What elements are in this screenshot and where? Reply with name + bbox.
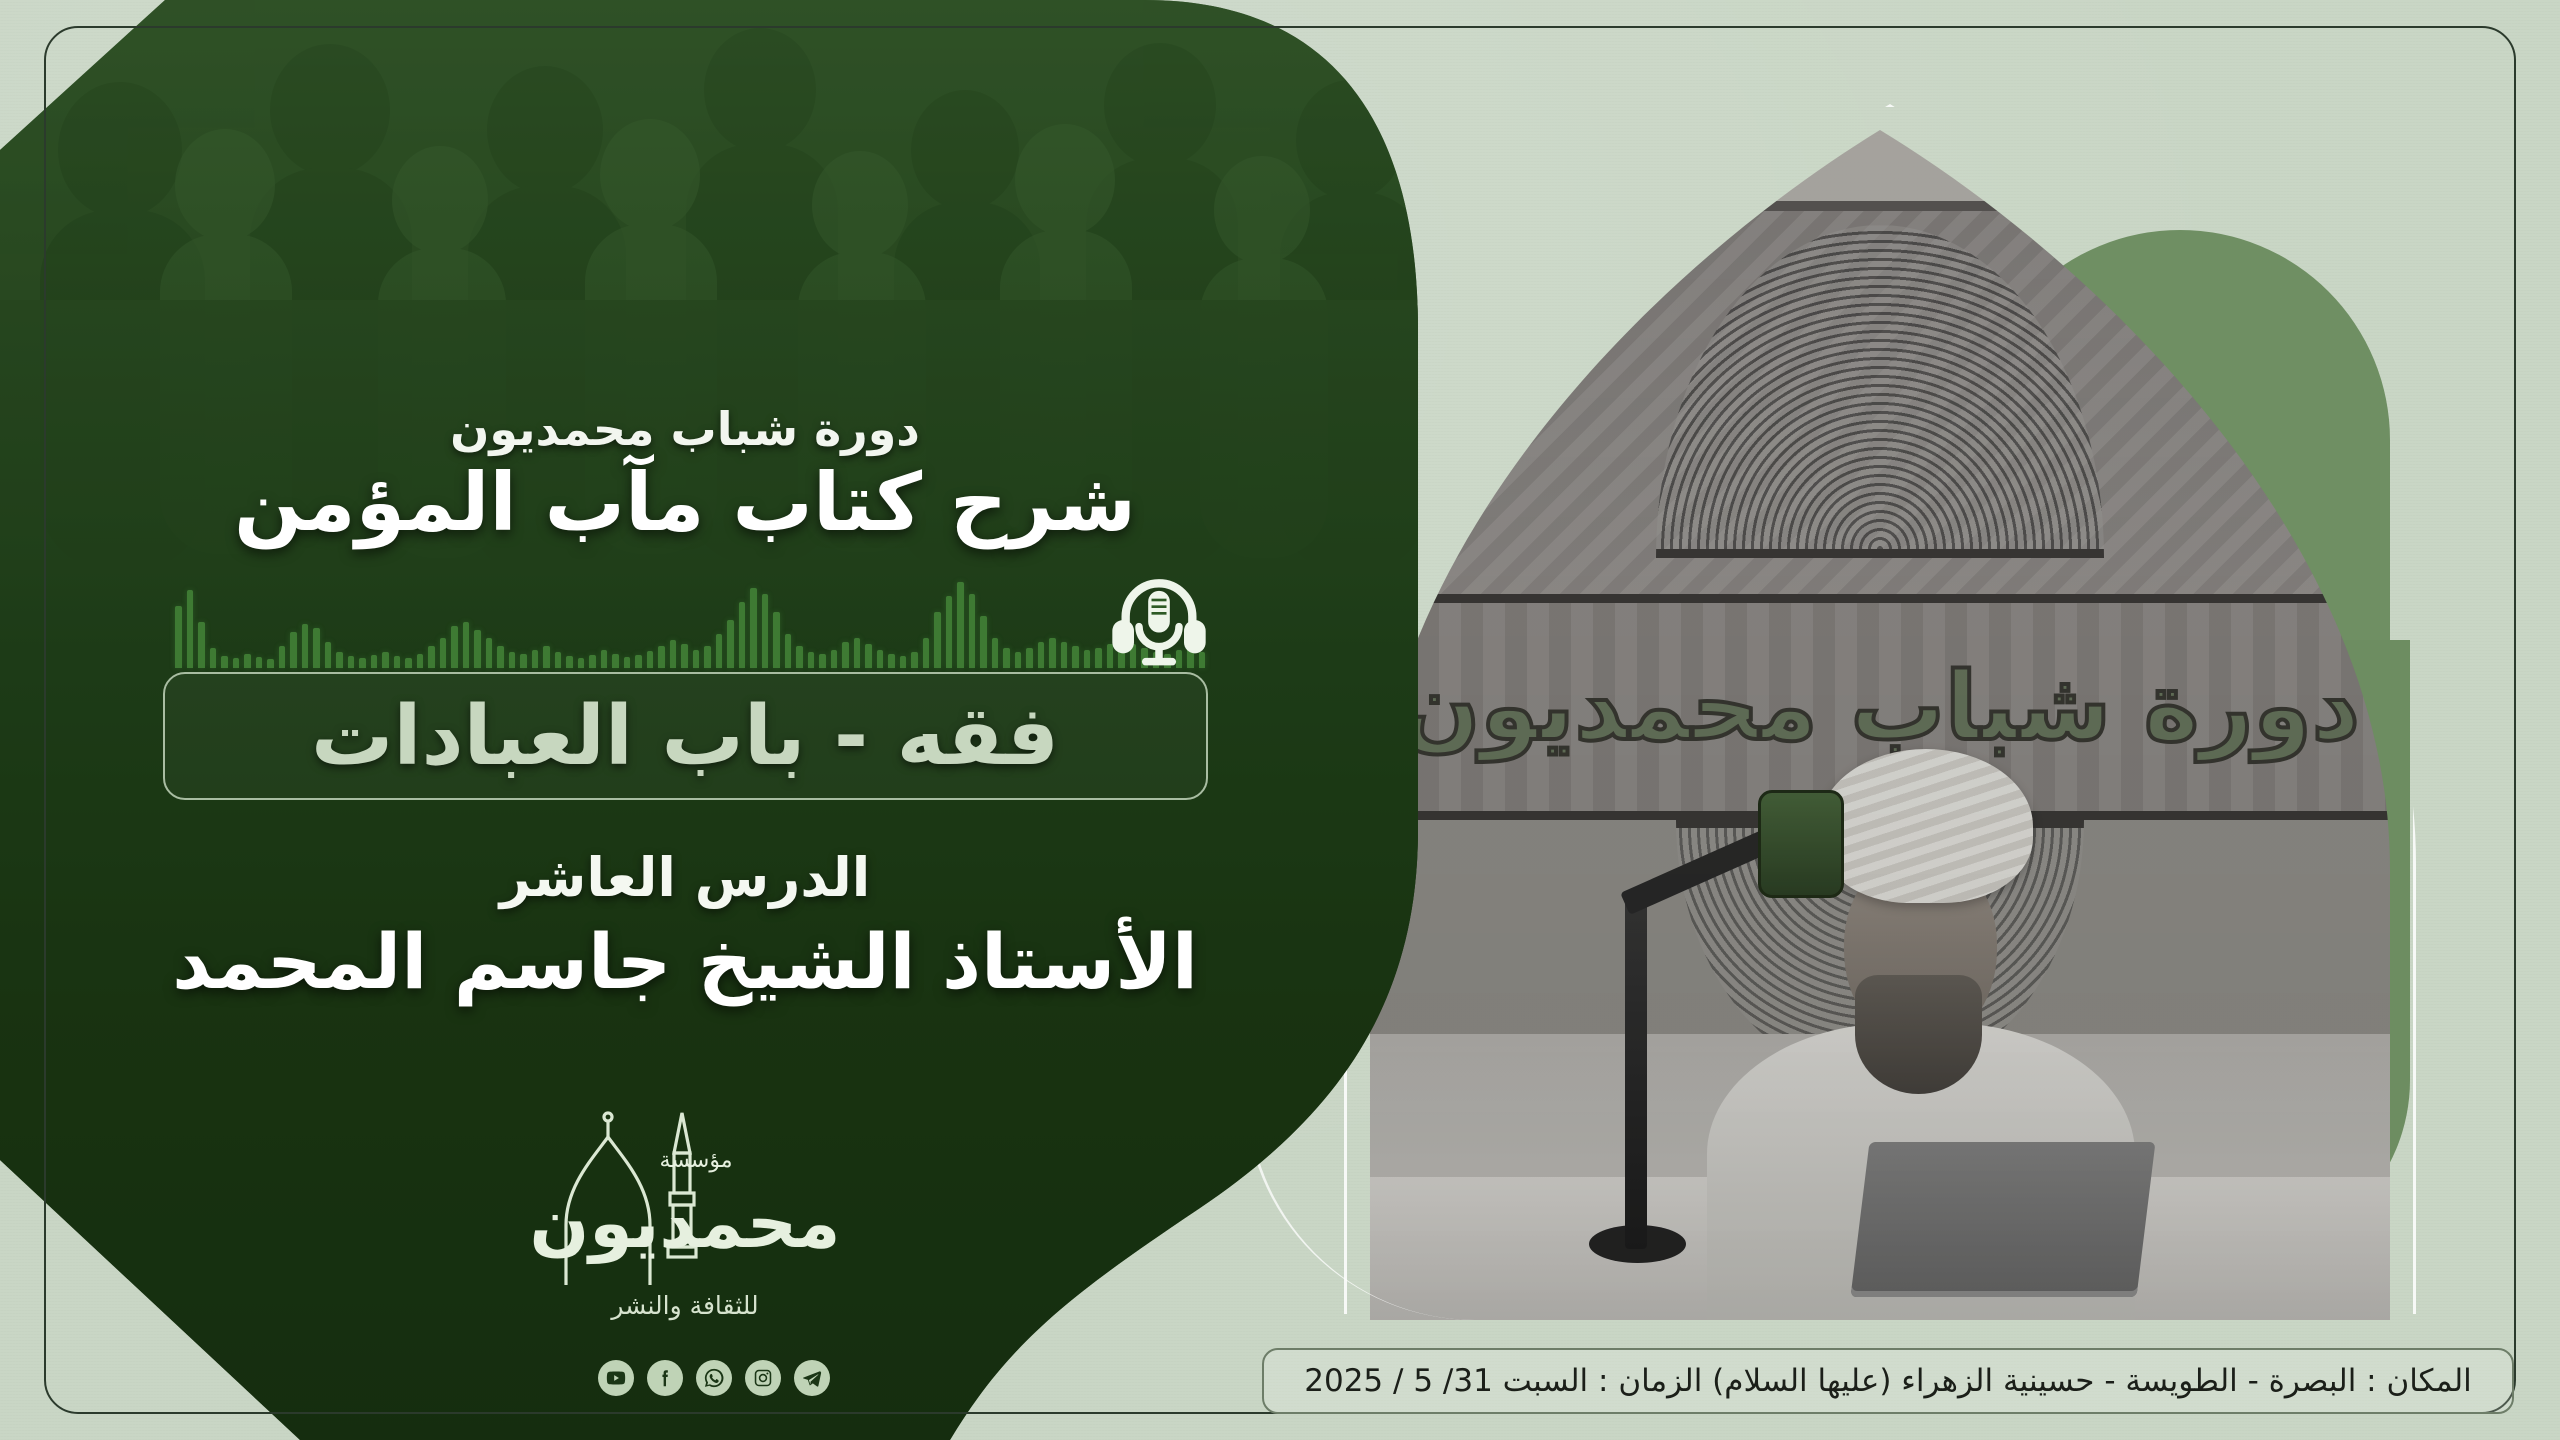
facebook-icon[interactable] (647, 1360, 683, 1396)
waveform-bar (302, 624, 309, 668)
waveform-bar (336, 652, 343, 668)
waveform-bar (405, 658, 412, 668)
waveform-bar (773, 612, 780, 668)
poster-headline: شرح كتاب مآب المؤمن (234, 460, 1136, 546)
waveform-bar (808, 652, 815, 668)
waveform-bar (187, 590, 194, 668)
waveform-bar (555, 652, 562, 668)
waveform-bar (1038, 642, 1045, 668)
waveform-bar (543, 646, 550, 668)
waveform-bar (290, 632, 297, 668)
waveform-bar (670, 640, 677, 668)
telegram-icon[interactable] (794, 1360, 830, 1396)
podcast-microphone-icon (1105, 570, 1213, 670)
waveform-bar (520, 654, 527, 668)
waveform-bar (486, 638, 493, 668)
waveform-bar (647, 651, 654, 668)
waveform-bar (969, 594, 976, 668)
waveform-bar (693, 650, 700, 668)
audio-waveform (165, 576, 1205, 668)
waveform-bar (980, 616, 987, 668)
waveform-bar (831, 650, 838, 668)
waveform-bar (509, 652, 516, 668)
waveform-bar (589, 655, 596, 668)
course-kicker: دورة شباب محمديون (450, 402, 920, 456)
whatsapp-icon[interactable] (696, 1360, 732, 1396)
waveform-bar (762, 594, 769, 668)
event-info-text: المكان : البصرة - الطويسة - حسينية الزهر… (1304, 1363, 2472, 1399)
waveform-bar (911, 652, 918, 668)
waveform-bar (601, 650, 608, 668)
waveform-bar (1072, 646, 1079, 668)
waveform-bar (739, 602, 746, 668)
logo-calligraphy: مؤسسة محمديون (529, 1148, 840, 1264)
waveform-bar (635, 655, 642, 668)
waveform-bar (463, 622, 470, 668)
instagram-icon[interactable] (745, 1360, 781, 1396)
waveform-bar (417, 654, 424, 668)
waveform-bar (877, 650, 884, 668)
waveform-bar (175, 606, 182, 668)
waveform-bar (1095, 648, 1102, 668)
waveform-bar (198, 622, 205, 668)
waveform-bar (865, 644, 872, 668)
waveform-bar (842, 642, 849, 668)
waveform-bar (474, 630, 481, 668)
waveform-bar (957, 582, 964, 668)
waveform-bar (233, 658, 240, 668)
youtube-icon[interactable] (598, 1360, 634, 1396)
waveform-bar (854, 638, 861, 668)
photo-arch-clip: دورة شباب محمديون (1370, 130, 2390, 1320)
waveform-bar (267, 659, 274, 668)
social-links[interactable] (598, 1360, 830, 1396)
logo-prefix: مؤسسة (659, 1148, 732, 1173)
speaker-photo: دورة شباب محمديون (1370, 130, 2390, 1320)
waveform-bar (1026, 648, 1033, 668)
speaker-name: الأستاذ الشيخ جاسم المحمد (172, 917, 1198, 1006)
waveform-bar (1049, 638, 1056, 668)
foundation-logo: مؤسسة محمديون للثقافة والنشر (500, 1095, 870, 1345)
waveform-bar (451, 626, 458, 668)
waveform-bar (658, 646, 665, 668)
waveform-bar (566, 656, 573, 668)
waveform-bar (210, 648, 217, 668)
waveform-bar (1003, 648, 1010, 668)
subject-band: فقه - باب العبادات (163, 672, 1208, 800)
waveform-bar (704, 646, 711, 668)
waveform-bar (796, 646, 803, 668)
lesson-number: الدرس العاشر (500, 846, 871, 909)
waveform-bar (394, 656, 401, 668)
waveform-bar (532, 650, 539, 668)
waveform-bar (256, 657, 263, 668)
waveform-bar (934, 612, 941, 668)
waveform-bar (1061, 642, 1068, 668)
poster-canvas: دورة شباب محمديون (0, 0, 2560, 1440)
waveform-bar (359, 658, 366, 668)
waveform-bar (497, 646, 504, 668)
event-info-bar: المكان : البصرة - الطويسة - حسينية الزهر… (1262, 1348, 2514, 1414)
waveform-bar (279, 646, 286, 668)
waveform-bar (785, 634, 792, 668)
waveform-bar (923, 638, 930, 668)
waveform-bar (382, 652, 389, 668)
waveform-bar (819, 654, 826, 668)
waveform-bar (244, 654, 251, 668)
waveform-bar (578, 658, 585, 668)
waveform-bar (727, 620, 734, 668)
subject-band-text: فقه - باب العبادات (311, 689, 1059, 784)
waveform-bar (325, 642, 332, 668)
waveform-bar (612, 654, 619, 668)
waveform-bar (1084, 650, 1091, 668)
waveform-bar (313, 628, 320, 668)
logo-mark: مؤسسة محمديون (500, 1095, 870, 1305)
waveform-bar (1015, 652, 1022, 668)
waveform-bar (750, 588, 757, 668)
waveform-bar (221, 656, 228, 668)
logo-name: محمديون (529, 1182, 840, 1264)
waveform-bar (624, 657, 631, 668)
waveform-bar (371, 655, 378, 668)
waveform-bar (716, 634, 723, 668)
waveform-bar (992, 638, 999, 668)
waveform-bar (681, 644, 688, 668)
waveform-bar (428, 646, 435, 668)
photo-greyscale-grade (1370, 130, 2390, 1320)
waveform-bar (888, 654, 895, 668)
logo-subtitle: للثقافة والنشر (500, 1291, 870, 1320)
waveform-bar (946, 596, 953, 668)
waveform-bar (440, 638, 447, 668)
waveform-bar (348, 656, 355, 668)
waveform-bar (900, 656, 907, 668)
